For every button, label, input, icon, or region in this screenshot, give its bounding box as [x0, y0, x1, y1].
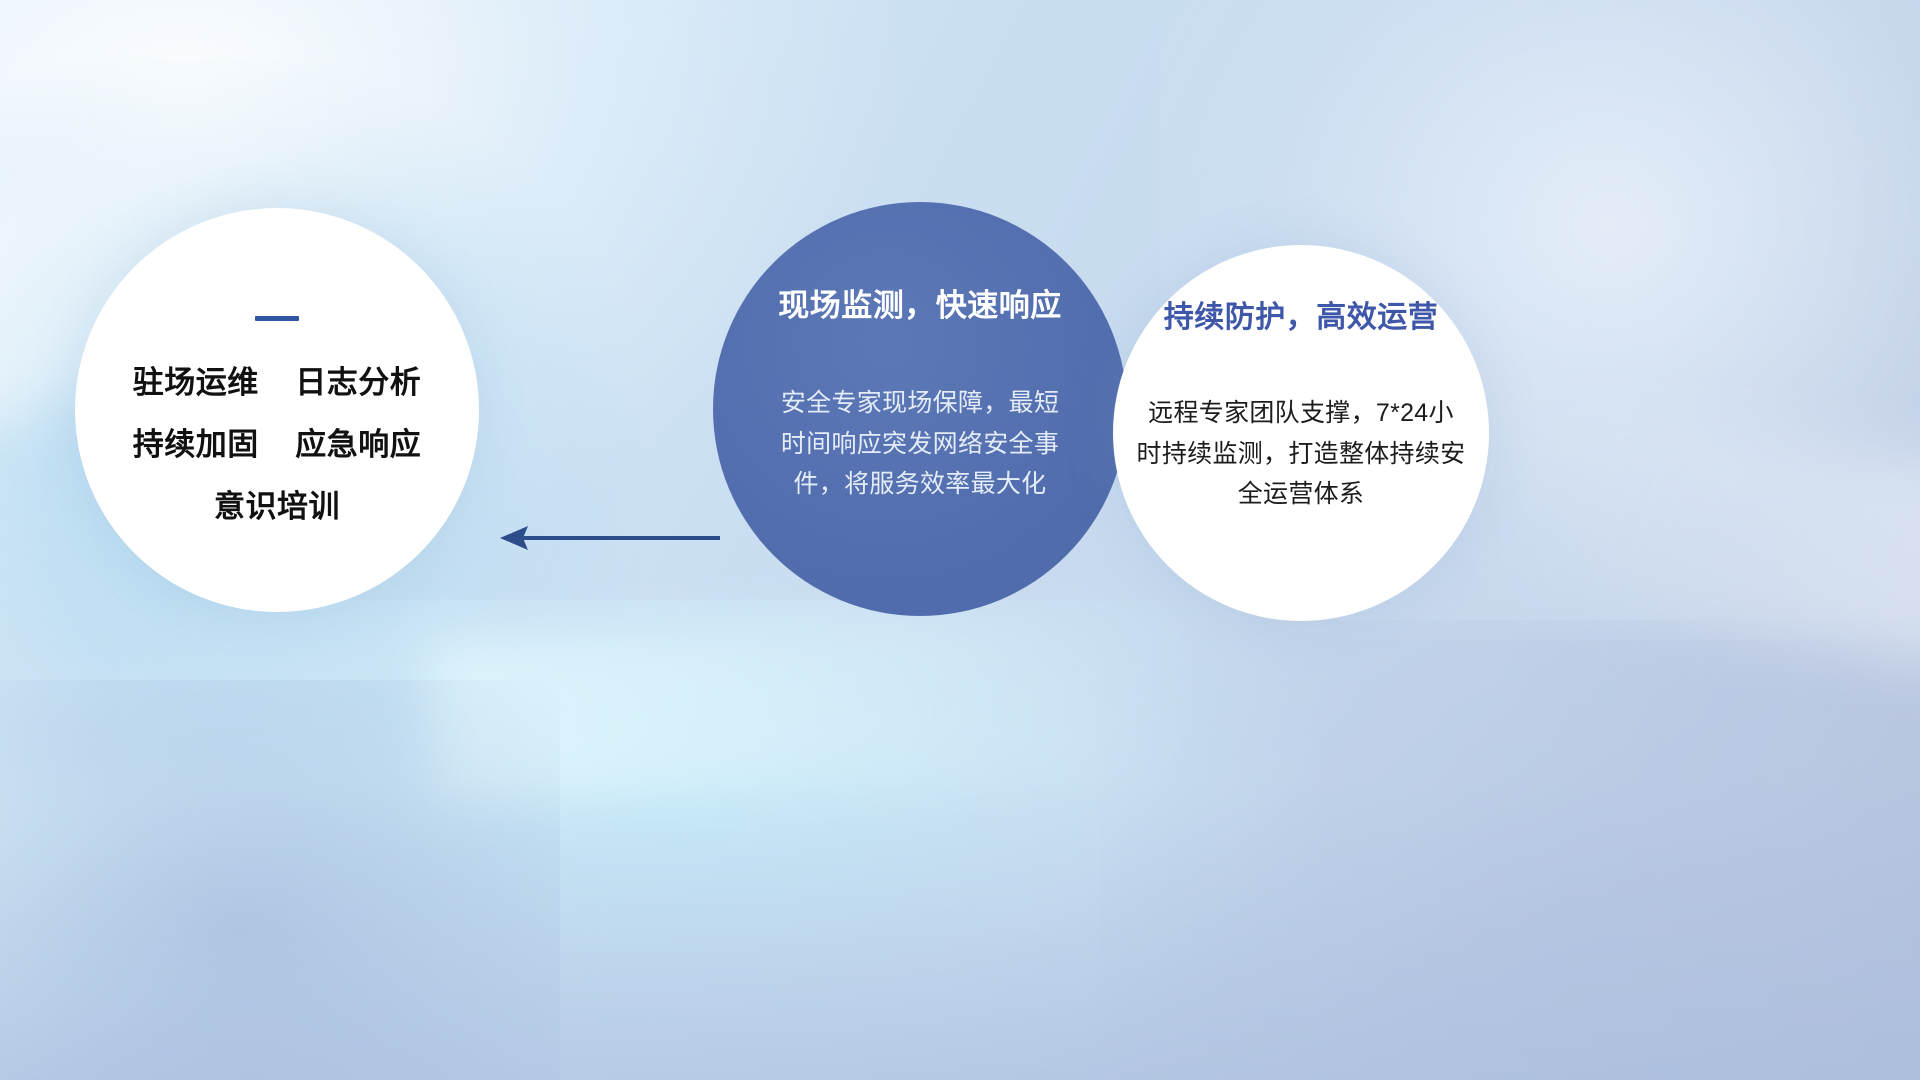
continuous-protection-circle[interactable]: 持续防护，高效运营 远程专家团队支撑，7*24小时持续监测，打造整体持续安全运营… [1113, 245, 1489, 621]
continuous-protection-body: 远程专家团队支撑，7*24小时持续监测，打造整体持续安全运营体系 [1136, 393, 1466, 515]
onsite-monitoring-circle[interactable]: 现场监测，快速响应 安全专家现场保障，最短时间响应突发网络安全事件，将服务效率最… [713, 202, 1127, 616]
services-line-1: 驻场运维 日志分析 [133, 367, 421, 398]
services-line-2: 持续加固 应急响应 [133, 429, 421, 460]
onsite-monitoring-title: 现场监测，快速响应 [778, 290, 1062, 321]
left-pointing-arrow-icon [494, 522, 720, 554]
services-circle[interactable]: 驻场运维 日志分析 持续加固 应急响应 意识培训 [75, 208, 479, 612]
services-line-3: 意识培训 [214, 491, 340, 522]
divider-dash-icon [255, 316, 299, 321]
diagram-stage: 驻场运维 日志分析 持续加固 应急响应 意识培训 现场监测，快速响应 安全专家现… [0, 0, 1920, 1080]
continuous-protection-title: 持续防护，高效运营 [1164, 303, 1439, 333]
onsite-monitoring-body: 安全专家现场保障，最短时间响应突发网络安全事件，将服务效率最大化 [770, 383, 1070, 505]
